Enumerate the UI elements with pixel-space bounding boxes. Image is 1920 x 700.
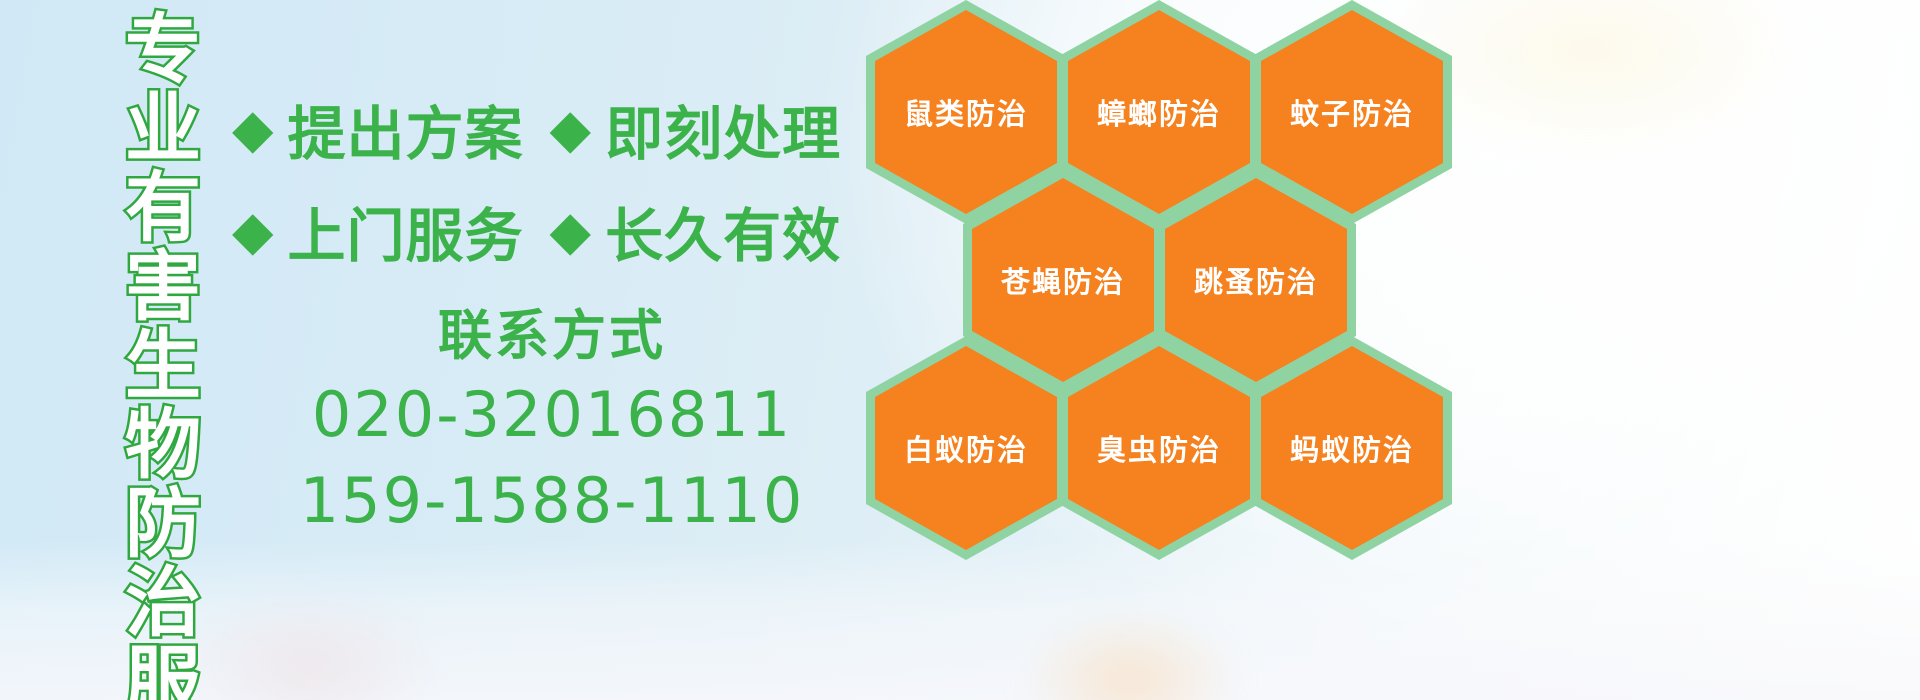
vertical-headline-char: 物	[125, 405, 201, 484]
vertical-headline-char: 生	[125, 326, 201, 405]
contact-phone-mobile[interactable]: 159-1588-1110	[232, 458, 872, 544]
service-hex-label: 白蚁防治	[904, 427, 1028, 469]
feature-label: 提出方案	[288, 87, 524, 171]
vertical-headline-char: 害	[125, 247, 201, 326]
diamond-bullet-icon: ◆	[232, 102, 274, 156]
feature-row: ◆ 提出方案 ◆ 即刻处理	[232, 78, 872, 180]
service-hex-label: 鼠类防治	[904, 91, 1028, 133]
service-hex-ant[interactable]: 蚂蚁防治	[1252, 336, 1452, 560]
feature-row: ◆ 上门服务 ◆ 长久有效	[232, 180, 872, 282]
contact-phone-landline[interactable]: 020-32016811	[232, 372, 872, 458]
feature-list: ◆ 提出方案 ◆ 即刻处理 ◆ 上门服务 ◆ 长久有效	[232, 78, 872, 282]
vertical-headline-char: 业	[125, 89, 201, 168]
feature-item: ◆ 长久有效	[550, 189, 842, 273]
feature-item: ◆ 即刻处理	[550, 87, 842, 171]
feature-item: ◆ 上门服务	[232, 189, 524, 273]
feature-item: ◆ 提出方案	[232, 87, 524, 171]
vertical-headline-char: 专	[125, 10, 201, 89]
diamond-bullet-icon: ◆	[550, 204, 592, 258]
background-blob-center	[1020, 610, 1240, 700]
service-hex-label: 蚊子防治	[1290, 91, 1414, 133]
vertical-headline-char: 有	[125, 168, 201, 247]
pest-control-banner: 专 业 有 害 生 物 防 治 服 务 ◆ 提出方案 ◆ 即刻处理 ◆ 上门服务	[0, 0, 1920, 700]
feature-label: 即刻处理	[605, 87, 841, 171]
service-hex-label: 苍蝇防治	[1001, 259, 1125, 301]
background-blob-left	[180, 590, 440, 700]
service-hex-label: 臭虫防治	[1097, 427, 1221, 469]
service-hex-bedbug[interactable]: 臭虫防治	[1059, 336, 1259, 560]
diamond-bullet-icon: ◆	[550, 102, 592, 156]
service-hex-label: 蚂蚁防治	[1290, 427, 1414, 469]
service-hex-label: 蟑螂防治	[1097, 91, 1221, 133]
service-hex-termite[interactable]: 白蚁防治	[866, 336, 1066, 560]
diamond-bullet-icon: ◆	[232, 204, 274, 258]
service-hexagon-grid: 鼠类防治 蟑螂防治 蚊子防治 苍蝇防治 跳蚤防治	[858, 0, 1498, 618]
service-hex-label: 跳蚤防治	[1194, 259, 1318, 301]
contact-block: 联系方式 020-32016811 159-1588-1110	[232, 300, 872, 544]
feature-label: 长久有效	[605, 189, 841, 273]
vertical-headline-char: 防	[125, 484, 201, 563]
vertical-headline-char: 服	[125, 642, 201, 700]
vertical-headline: 专 业 有 害 生 物 防 治 服 务	[108, 10, 218, 700]
contact-label: 联系方式	[232, 300, 872, 372]
feature-label: 上门服务	[288, 189, 524, 273]
vertical-headline-char: 治	[125, 563, 201, 642]
